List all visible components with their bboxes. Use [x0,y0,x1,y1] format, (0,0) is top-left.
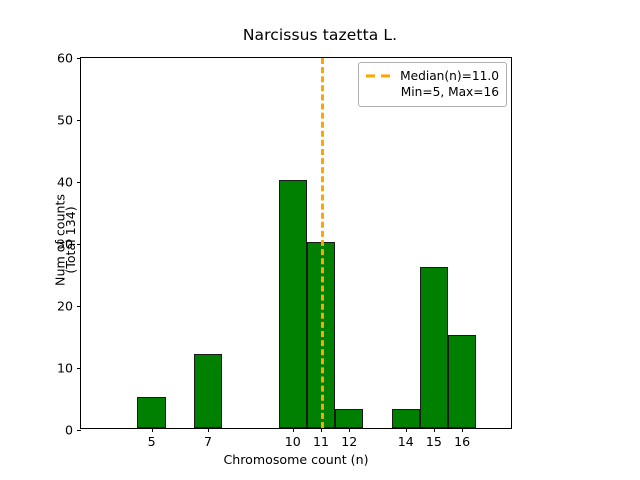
bar [448,335,476,428]
bar [137,397,165,428]
y-tick-mark [77,182,81,183]
x-tick-mark [462,428,463,432]
bar [335,409,363,428]
y-tick-label: 50 [57,113,73,128]
x-tick-label: 12 [341,434,357,449]
chart-title: Narcissus tazetta L. [0,26,640,44]
x-tick-label: 11 [313,434,329,449]
plot-area: 0102030405060 57101112141516 Median(n)=1… [80,57,512,429]
bar [194,354,222,428]
x-tick-mark [434,428,435,432]
bar [420,267,448,428]
bar [279,180,307,428]
chart-legend: Median(n)=11.0 Min=5, Max=16 [358,62,507,107]
legend-item-median: Median(n)=11.0 [366,68,499,84]
y-tick-label: 40 [57,175,73,190]
x-tick-mark [321,428,322,432]
bars-layer [81,58,511,428]
dashed-line-icon [366,70,392,82]
x-tick-label: 5 [148,434,156,449]
x-tick-mark [293,428,294,432]
bar [392,409,420,428]
y-tick-label: 0 [65,423,73,438]
y-tick-mark [77,368,81,369]
y-tick-label: 10 [57,361,73,376]
y-tick-label: 20 [57,299,73,314]
y-tick-mark [77,306,81,307]
y-tick-mark [77,244,81,245]
legend-label-median: Median(n)=11.0 [400,68,499,84]
x-tick-label: 14 [398,434,414,449]
chart-figure: Narcissus tazetta L. Num of counts (Tota… [0,0,640,480]
y-tick-label: 30 [57,237,73,252]
x-tick-label: 15 [426,434,442,449]
median-line-marker [321,58,324,428]
y-tick-label: 60 [57,51,73,66]
x-axis-label: Chromosome count (n) [80,452,512,467]
x-tick-label: 16 [454,434,470,449]
legend-item-range: Min=5, Max=16 [366,84,499,100]
x-tick-label: 7 [204,434,212,449]
x-tick-mark [349,428,350,432]
x-tick-label: 10 [285,434,301,449]
x-tick-mark [152,428,153,432]
x-tick-mark [406,428,407,432]
y-tick-mark [77,430,81,431]
y-tick-mark [77,120,81,121]
x-tick-mark [208,428,209,432]
legend-label-range: Min=5, Max=16 [401,84,499,100]
y-tick-mark [77,58,81,59]
